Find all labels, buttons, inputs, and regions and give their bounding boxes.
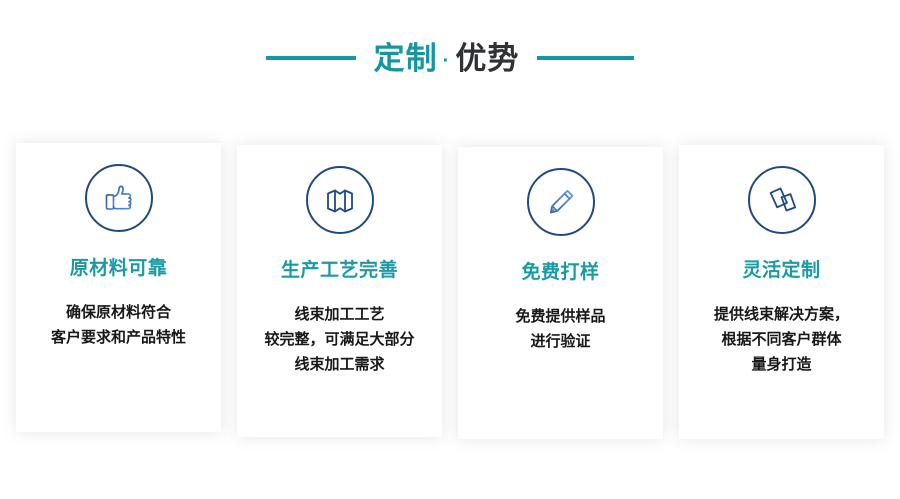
feature-card-body-line: 线束加工需求 (264, 352, 414, 377)
feature-card[interactable]: 免费打样 免费提供样品 进行验证 (458, 147, 663, 439)
feature-card-title: 灵活定制 (742, 261, 820, 280)
page-title-separator: · (438, 51, 456, 71)
feature-card-body-line: 客户要求和产品特性 (51, 325, 186, 350)
heading-rule-left (266, 56, 356, 60)
feature-card-body: 线束加工工艺 较完整，可满足大部分 线束加工需求 (256, 302, 422, 377)
folded-map-icon (322, 182, 358, 218)
feature-card-list: 原材料可靠 确保原材料符合 客户要求和产品特性 生产工艺完善 线束加工工艺 较完… (0, 143, 900, 453)
feature-card-body-line: 量身打造 (714, 352, 849, 377)
icon-circle (748, 166, 816, 234)
icon-circle (527, 168, 595, 236)
thumbs-up-icon (100, 179, 138, 217)
page-title-accent: 定制 (374, 43, 438, 74)
feature-card-body-line: 免费提供样品 (515, 304, 605, 329)
feature-card-body-line: 确保原材料符合 (51, 300, 186, 325)
icon-circle (306, 166, 374, 234)
feature-card-body-line: 进行验证 (515, 329, 605, 354)
icon-circle (85, 164, 153, 232)
heading-rule-right (537, 56, 634, 60)
feature-card-body-line: 提供线束解决方案， (714, 302, 849, 327)
feature-card-body-line: 较完整，可满足大部分 (264, 327, 414, 352)
feature-card-body: 确保原材料符合 客户要求和产品特性 (43, 300, 194, 350)
pencil-icon (543, 184, 579, 220)
feature-card-title: 免费打样 (521, 263, 599, 282)
feature-card-title: 生产工艺完善 (281, 261, 398, 280)
feature-card[interactable]: 生产工艺完善 线束加工工艺 较完整，可满足大部分 线束加工需求 (237, 145, 442, 437)
feature-card-body-line: 根据不同客户群体 (714, 327, 849, 352)
feature-card[interactable]: 灵活定制 提供线束解决方案， 根据不同客户群体 量身打造 (679, 145, 884, 439)
feature-card-body: 免费提供样品 进行验证 (507, 304, 613, 354)
page-title-dark: 优势 (455, 43, 519, 74)
stacked-cards-icon (764, 182, 800, 218)
feature-card-body-line: 线束加工工艺 (264, 302, 414, 327)
section-heading: 定制 · 优势 (0, 28, 900, 88)
feature-card[interactable]: 原材料可靠 确保原材料符合 客户要求和产品特性 (16, 143, 221, 432)
page-title: 定制 · 优势 (374, 43, 520, 74)
feature-card-body: 提供线束解决方案， 根据不同客户群体 量身打造 (706, 302, 857, 377)
feature-card-title: 原材料可靠 (70, 259, 168, 278)
